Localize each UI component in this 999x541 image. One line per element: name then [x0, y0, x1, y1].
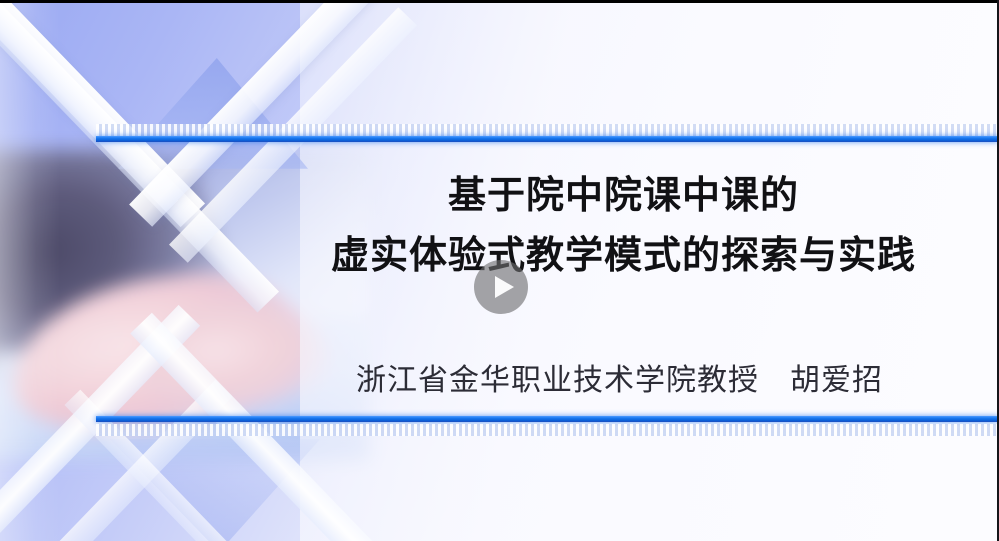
play-triangle-icon	[495, 276, 514, 298]
decor-bar-bottom-dots	[96, 424, 999, 436]
decor-bar-top	[96, 122, 999, 148]
video-title: 基于院中院课中课的 虚实体验式教学模式的探索与实践	[300, 166, 939, 286]
presenter-credit: 浙江省金华职业技术学院教授 胡爱招	[300, 355, 939, 399]
video-title-line-2: 虚实体验式教学模式的探索与实践	[308, 226, 939, 286]
decor-bar-bottom	[96, 410, 999, 436]
play-button[interactable]	[474, 260, 528, 314]
decor-bar-top-blue-line	[96, 136, 999, 142]
video-player-poster: 基于院中院课中课的 虚实体验式教学模式的探索与实践 浙江省金华职业技术学院教授 …	[0, 0, 999, 541]
frame-edge-top	[0, 0, 999, 3]
video-title-line-1: 基于院中院课中课的	[308, 166, 939, 226]
decor-bar-bottom-blue-line	[96, 416, 999, 422]
decor-bar-top-dots	[96, 124, 999, 136]
background-left-glow	[0, 0, 60, 541]
